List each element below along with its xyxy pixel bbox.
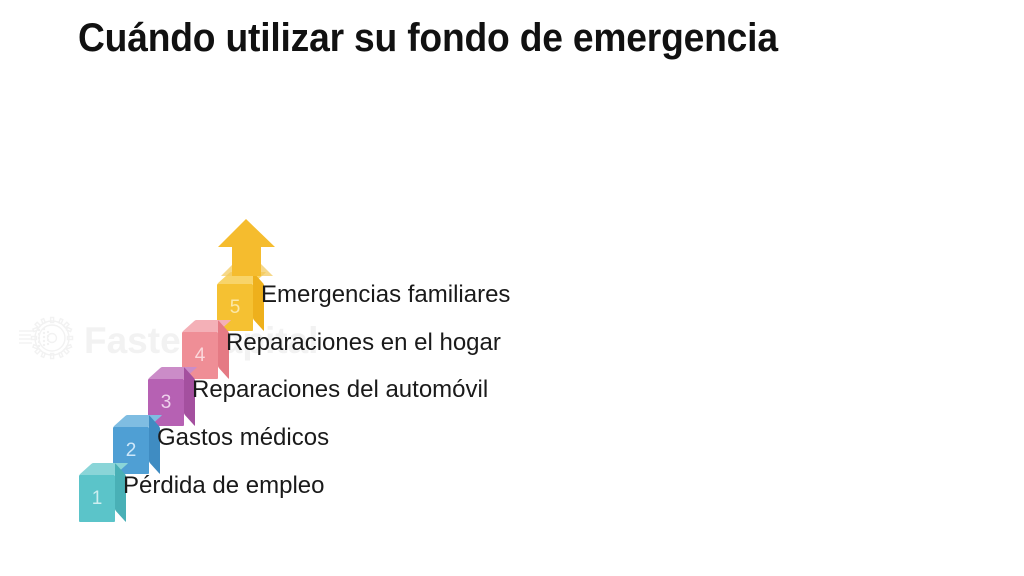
staircase-graphic: 5 Emergencias familiares 4 Reparaciones …: [0, 0, 1024, 576]
step-number-4: 4: [182, 332, 218, 379]
step-label-1: Pérdida de empleo: [123, 472, 324, 500]
step-number-5: 5: [217, 284, 253, 331]
step-number-3: 3: [148, 379, 184, 426]
up-arrow-icon: [213, 218, 275, 276]
step-cube-4[interactable]: 4: [182, 320, 218, 367]
slide-canvas: Cuándo utilizar su fondo de emergencia: [0, 0, 1024, 576]
step-label-3: Reparaciones del automóvil: [192, 376, 488, 404]
step-label-5: Emergencias familiares: [261, 281, 510, 309]
step-cube-1[interactable]: 1: [79, 463, 115, 510]
step-number-1: 1: [79, 475, 115, 522]
step-label-2: Gastos médicos: [157, 424, 329, 452]
step-cube-3[interactable]: 3: [148, 367, 184, 414]
step-cube-2[interactable]: 2: [113, 415, 149, 462]
step-label-4: Reparaciones en el hogar: [226, 329, 501, 357]
step-number-2: 2: [113, 427, 149, 474]
